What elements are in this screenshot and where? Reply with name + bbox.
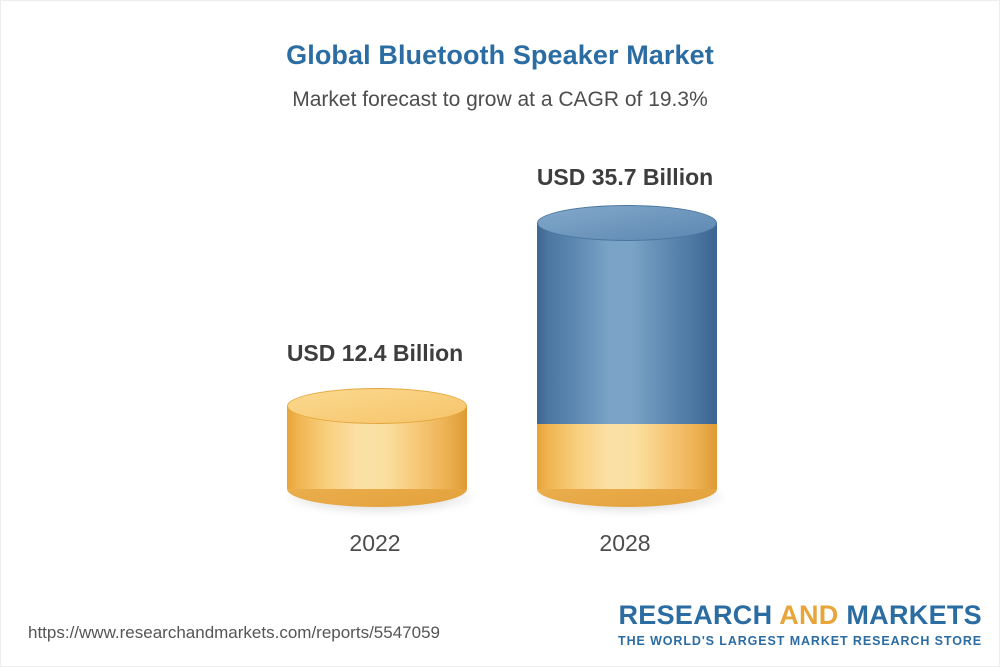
brand-name-last: MARKETS xyxy=(839,600,982,630)
source-url[interactable]: https://www.researchandmarkets.com/repor… xyxy=(28,623,440,643)
page-title: Global Bluetooth Speaker Market xyxy=(0,40,1000,71)
bar-cylinder-top-2022 xyxy=(287,388,467,424)
bar-column-2022: USD 12.4 Billion 2022 xyxy=(255,140,495,580)
infographic-canvas: Global Bluetooth Speaker Market Market f… xyxy=(0,0,1000,667)
chart-plot-area: USD 12.4 Billion 2022 USD 35.7 Billion xyxy=(0,140,1000,580)
bar-cylinder-top-2028 xyxy=(537,205,717,241)
brand-tagline: THE WORLD'S LARGEST MARKET RESEARCH STOR… xyxy=(618,635,982,648)
bar-cylinder-2022 xyxy=(287,388,467,508)
brand-name: RESEARCH AND MARKETS xyxy=(618,602,982,629)
bar-cylinder-2028 xyxy=(537,205,717,508)
brand-logo[interactable]: RESEARCH AND MARKETS THE WORLD'S LARGEST… xyxy=(618,602,982,648)
bar-category-label-2028: 2028 xyxy=(505,530,745,557)
bar-value-label-2028: USD 35.7 Billion xyxy=(505,164,745,191)
bar-value-label-2022: USD 12.4 Billion xyxy=(255,340,495,367)
bar-column-2028: USD 35.7 Billion 2028 xyxy=(505,140,745,580)
page-subtitle: Market forecast to grow at a CAGR of 19.… xyxy=(0,88,1000,112)
bar-cylinder-body-2028 xyxy=(537,223,717,424)
brand-name-and: AND xyxy=(779,600,838,630)
brand-name-first: RESEARCH xyxy=(618,600,779,630)
bar-category-label-2022: 2022 xyxy=(255,530,495,557)
